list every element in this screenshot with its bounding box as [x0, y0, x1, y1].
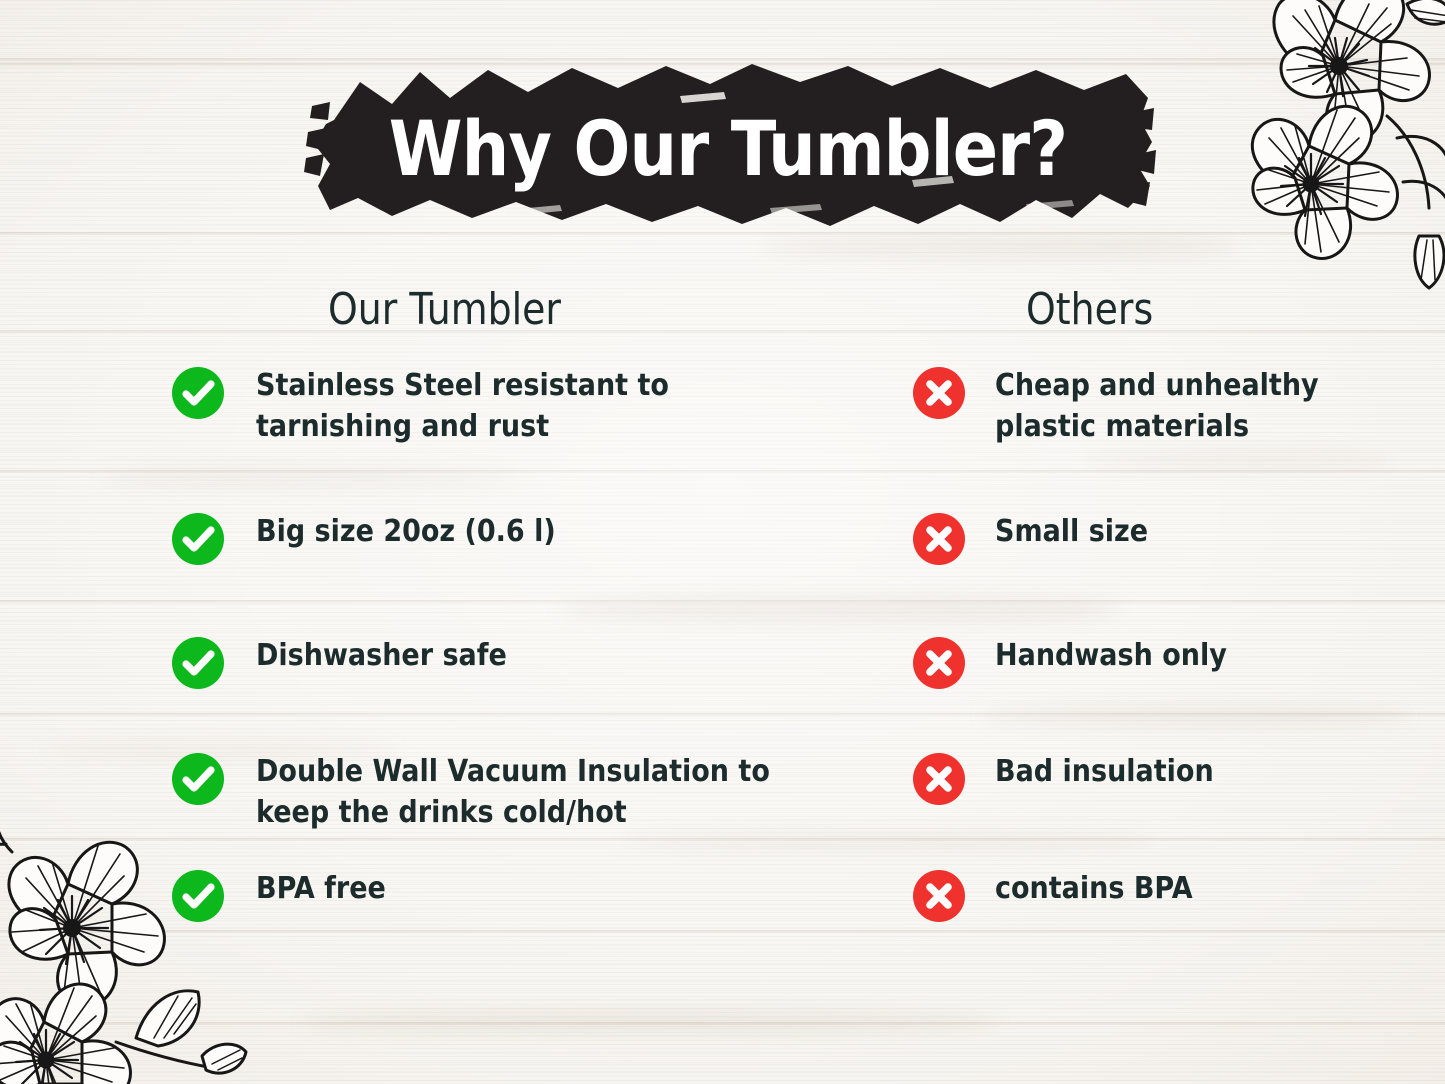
list-item-label: Dishwasher safe [256, 635, 507, 676]
list-item-label: Bad insulation [995, 751, 1214, 792]
list-item-label: contains BPA [995, 868, 1193, 909]
list-item-label: Double Wall Vacuum Insulation to keep th… [256, 751, 770, 834]
cross-circle-icon [913, 870, 965, 922]
list-item: contains BPA [913, 868, 1215, 922]
list-item: Small size [913, 511, 1165, 565]
plank-seam [0, 930, 1445, 933]
cross-circle-icon [913, 637, 965, 689]
list-item-label: Small size [995, 511, 1148, 552]
list-item-label: Stainless Steel resistant to tarnishing … [256, 365, 669, 448]
list-item-label: Cheap and unhealthy plastic materials [995, 365, 1319, 448]
column-header-others: Others [1026, 288, 1153, 332]
list-item-label: Handwash only [995, 635, 1227, 676]
list-item: Bad insulation [913, 751, 1238, 805]
list-item: BPA free [172, 868, 400, 922]
check-circle-icon [172, 367, 224, 419]
plank-seam [0, 838, 1445, 841]
title-banner: Why Our Tumbler? [300, 58, 1156, 228]
check-circle-icon [172, 637, 224, 689]
check-circle-icon [172, 753, 224, 805]
cross-circle-icon [913, 753, 965, 805]
list-item: Big size 20oz (0.6 l) [172, 511, 589, 565]
column-header-our-tumbler: Our Tumbler [328, 288, 561, 332]
plank-seam [0, 470, 1445, 473]
check-circle-icon [172, 513, 224, 565]
list-item: Cheap and unhealthy plastic materials [913, 365, 1355, 448]
plank-seam [0, 330, 1445, 333]
cross-circle-icon [913, 367, 965, 419]
poster-canvas: Why Our Tumbler? Our Tumbler Others Stai… [0, 0, 1445, 1084]
list-item-label: Big size 20oz (0.6 l) [256, 511, 556, 552]
plank-seam [0, 1022, 1445, 1025]
list-item: Handwash only [913, 635, 1253, 689]
plank-seam [0, 713, 1445, 716]
list-item: Double Wall Vacuum Insulation to keep th… [172, 751, 827, 834]
list-item-label: BPA free [256, 868, 386, 909]
page-title: Why Our Tumbler? [351, 111, 1104, 187]
list-item: Dishwasher safe [172, 635, 535, 689]
list-item: Stainless Steel resistant to tarnishing … [172, 365, 715, 448]
cross-circle-icon [913, 513, 965, 565]
check-circle-icon [172, 870, 224, 922]
plank-seam [0, 600, 1445, 603]
plank-seam [0, 232, 1445, 235]
